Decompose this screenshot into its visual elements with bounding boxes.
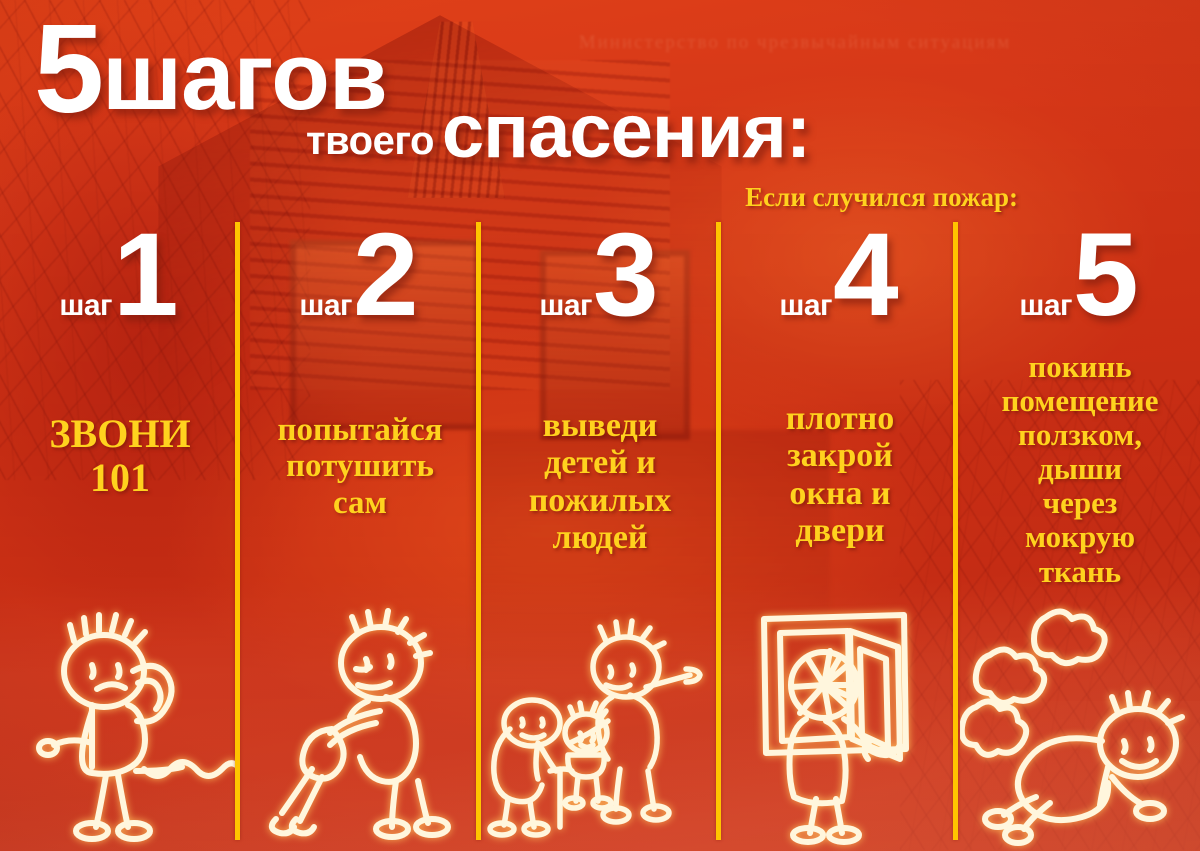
step-4-line-2: закрой bbox=[728, 437, 952, 474]
step-column-2: шаг 2 попытайся потушить сам bbox=[240, 222, 480, 851]
step-2-line-1: попытайся bbox=[248, 412, 472, 448]
step-3-heading: шаг 3 bbox=[480, 228, 720, 323]
step-2-heading: шаг 2 bbox=[240, 228, 480, 323]
steps-container: шаг 1 ЗВОНИ 101 bbox=[0, 222, 1200, 851]
step-4-label: шаг bbox=[779, 289, 832, 323]
step-5-label: шаг bbox=[1019, 289, 1072, 323]
step-2-line-2: потушить bbox=[248, 448, 472, 484]
column-divider-4 bbox=[953, 222, 958, 840]
step-2-line-3: сам bbox=[248, 485, 472, 521]
step-2-label: шаг bbox=[299, 289, 352, 323]
step-column-3: шаг 3 выведи детей и пожилых людей bbox=[480, 222, 720, 851]
step-5-line-4: дыши bbox=[968, 452, 1192, 486]
step-column-4: шаг 4 плотно закрой окна и двери bbox=[720, 222, 960, 851]
title-word-spaseniya: спасения: bbox=[442, 96, 810, 168]
step-4-heading: шаг 4 bbox=[720, 228, 960, 323]
step-4-number: 4 bbox=[833, 228, 895, 322]
step-4-text: плотно закрой окна и двери bbox=[720, 400, 960, 550]
column-divider-1 bbox=[235, 222, 240, 840]
step-1-line-2: 101 bbox=[8, 456, 232, 500]
step-5-line-6: мокрую bbox=[968, 520, 1192, 554]
step-5-line-7: ткань bbox=[968, 555, 1192, 589]
step-1-heading: шаг 1 bbox=[0, 228, 240, 323]
step-3-line-4: людей bbox=[488, 519, 712, 556]
step-1-line-1: ЗВОНИ bbox=[8, 412, 232, 456]
step-1-text: ЗВОНИ 101 bbox=[0, 412, 240, 500]
step-4-line-3: окна и bbox=[728, 475, 952, 512]
fire-safety-poster: Министерство по чрезвычайным ситуациям 5… bbox=[0, 0, 1200, 851]
step-column-5: шаг 5 покинь помещение ползком, дыши чер… bbox=[960, 222, 1200, 851]
step-1-number: 1 bbox=[113, 228, 175, 322]
step-3-line-1: выведи bbox=[488, 407, 712, 444]
step-4-line-1: плотно bbox=[728, 400, 952, 437]
title-big-number: 5 bbox=[34, 16, 100, 122]
title-word-tvoego: твоего bbox=[306, 121, 434, 168]
step-3-label: шаг bbox=[539, 289, 592, 323]
step-5-text: покинь помещение ползком, дыши через мок… bbox=[960, 350, 1200, 589]
step-column-1: шаг 1 ЗВОНИ 101 bbox=[0, 222, 240, 851]
step-5-line-1: покинь bbox=[968, 350, 1192, 384]
step-3-line-3: пожилых bbox=[488, 482, 712, 519]
step-3-text: выведи детей и пожилых людей bbox=[480, 407, 720, 557]
step-4-line-4: двери bbox=[728, 512, 952, 549]
step-5-number: 5 bbox=[1073, 228, 1135, 322]
poster-header: 5 шагов твоего спасения: Если случился п… bbox=[0, 0, 1200, 222]
adult-leading-child-and-elderly-icon bbox=[480, 601, 720, 851]
step-5-heading: шаг 5 bbox=[960, 228, 1200, 323]
step-1-label: шаг bbox=[59, 289, 112, 323]
step-2-number: 2 bbox=[353, 228, 415, 322]
step-5-line-2: помещение bbox=[968, 384, 1192, 418]
column-divider-3 bbox=[716, 222, 721, 840]
step-5-line-3: ползком, bbox=[968, 418, 1192, 452]
column-divider-2 bbox=[476, 222, 481, 840]
person-with-fire-extinguisher-icon bbox=[240, 601, 480, 851]
person-crawling-under-smoke-icon bbox=[960, 601, 1200, 851]
person-closing-window-icon bbox=[720, 601, 960, 851]
person-calling-phone-icon bbox=[0, 601, 240, 851]
step-3-number: 3 bbox=[593, 228, 655, 322]
step-5-line-5: через bbox=[968, 486, 1192, 520]
title-line-two: твоего спасения: bbox=[306, 96, 810, 168]
step-3-line-2: детей и bbox=[488, 444, 712, 481]
step-2-text: попытайся потушить сам bbox=[240, 412, 480, 521]
